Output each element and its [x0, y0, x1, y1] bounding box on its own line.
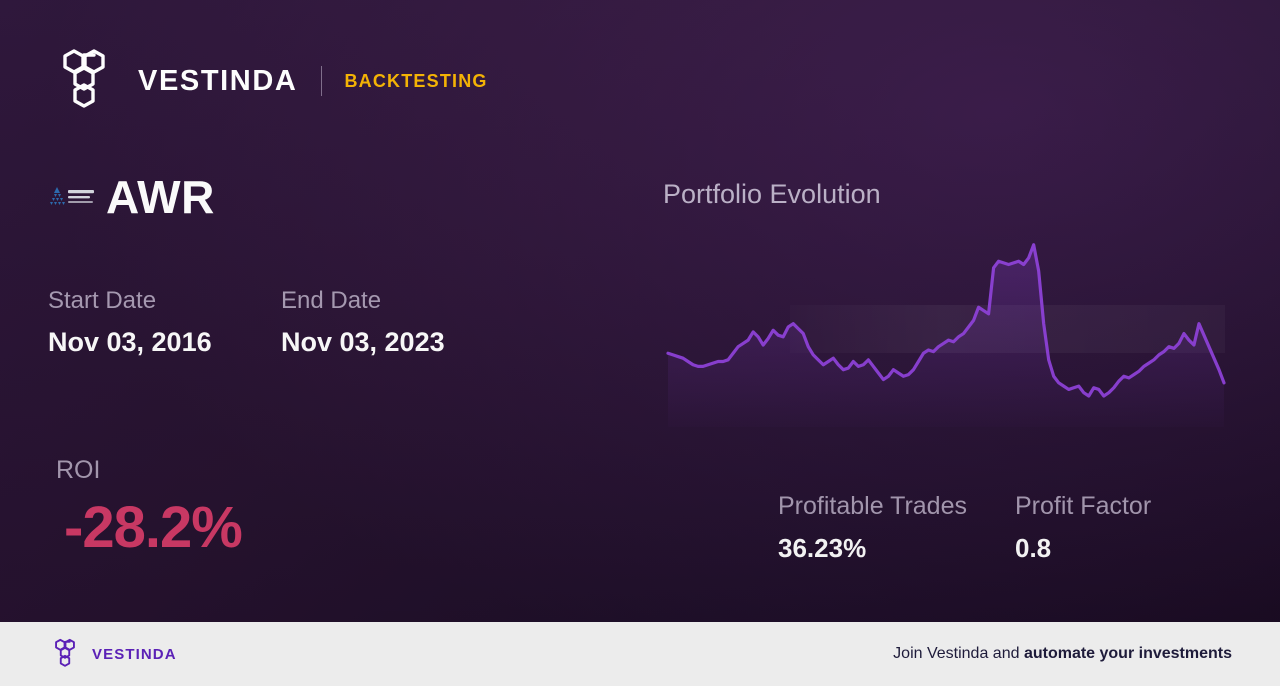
- start-date-value: Nov 03, 2016: [48, 325, 281, 361]
- footer-cta: Join Vestinda and automate your investme…: [893, 646, 1232, 662]
- backtesting-card: VESTINDA BACKTESTING AWR: [0, 0, 1280, 622]
- stat-label: Profit Factor: [1015, 490, 1151, 523]
- footer-cta-bold: automate your investments: [1024, 645, 1232, 662]
- footer-brand-name: VESTINDA: [92, 647, 177, 662]
- vestinda-hexagon-logo-icon: [48, 638, 82, 670]
- date-range: Start Date Nov 03, 2016 End Date Nov 03,…: [48, 285, 445, 360]
- stats-row: Profitable Trades 36.23% Profit Factor 0…: [778, 490, 1151, 565]
- section-label: BACKTESTING: [344, 72, 487, 90]
- chart-svg: [655, 222, 1235, 427]
- stat-profitable-trades: Profitable Trades 36.23%: [778, 490, 967, 565]
- start-date-block: Start Date Nov 03, 2016: [48, 285, 281, 360]
- roi-label: ROI: [56, 458, 242, 483]
- stat-label: Profitable Trades: [778, 490, 967, 523]
- american-states-water-logo-icon: [48, 182, 98, 212]
- vestinda-hexagon-logo-icon: [48, 47, 120, 115]
- app-header: VESTINDA BACKTESTING: [48, 46, 488, 116]
- start-date-label: Start Date: [48, 285, 281, 317]
- roi-metric: ROI -28.2%: [56, 458, 242, 557]
- roi-value: -28.2%: [64, 499, 242, 557]
- brand-name: VESTINDA: [138, 67, 297, 96]
- chart-title: Portfolio Evolution: [663, 178, 881, 210]
- footer-cta-prefix: Join Vestinda and: [893, 645, 1024, 662]
- stat-value: 36.23%: [778, 532, 967, 566]
- end-date-label: End Date: [281, 285, 445, 317]
- asset-ticker: AWR: [106, 174, 215, 220]
- stat-value: 0.8: [1015, 532, 1151, 566]
- vertical-divider-icon: [321, 66, 322, 96]
- footer-brand-group: VESTINDA: [48, 638, 177, 670]
- portfolio-evolution-chart: [655, 222, 1235, 427]
- stat-profit-factor: Profit Factor 0.8: [1015, 490, 1151, 565]
- page-footer: VESTINDA Join Vestinda and automate your…: [0, 622, 1280, 686]
- asset-identity: AWR: [48, 174, 215, 220]
- end-date-value: Nov 03, 2023: [281, 325, 445, 361]
- end-date-block: End Date Nov 03, 2023: [281, 285, 445, 360]
